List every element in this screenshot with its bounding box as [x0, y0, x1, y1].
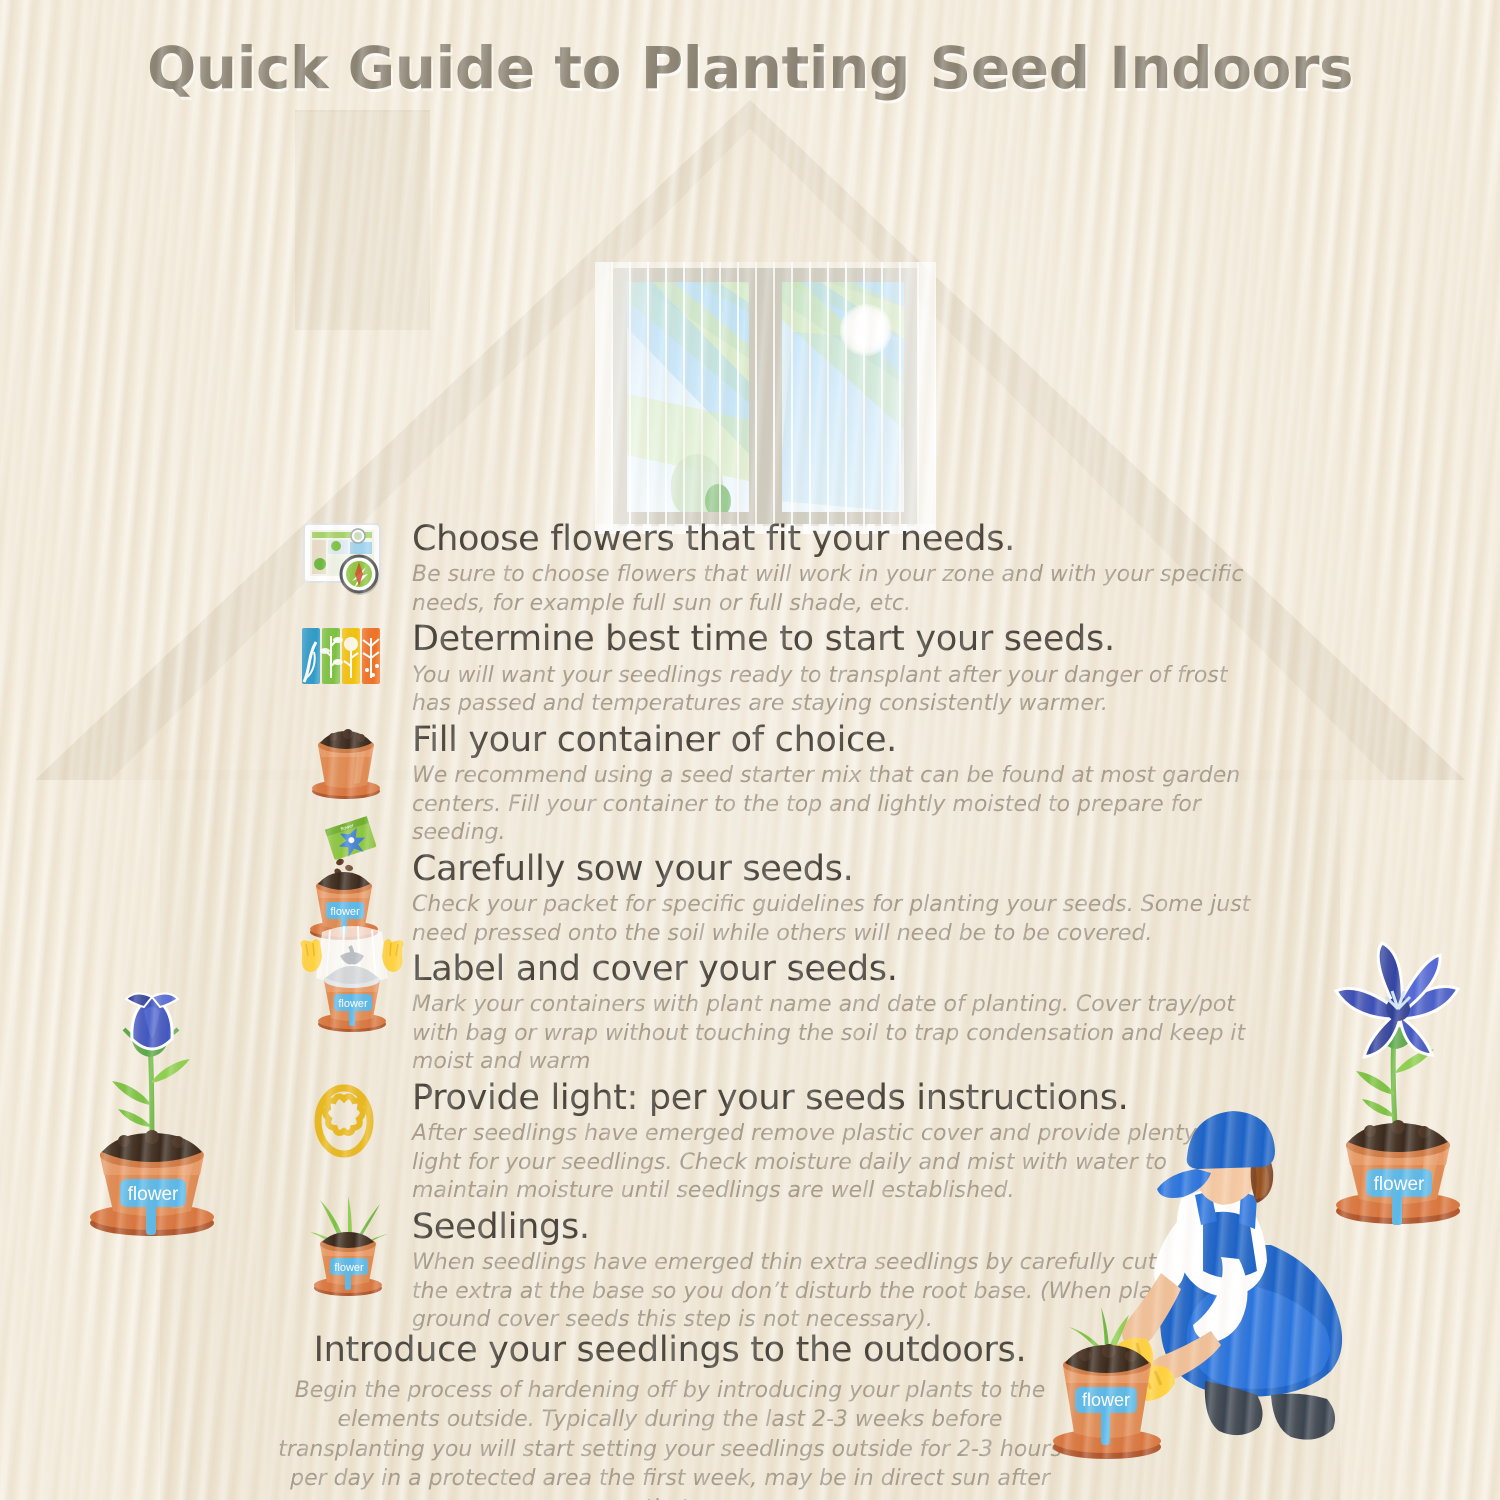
light-ray: [782, 332, 904, 512]
page-title: Quick Guide to Planting Seed Indoors: [0, 34, 1500, 102]
step-body: You will want your seedlings ready to tr…: [412, 662, 1260, 719]
step-item: Determine best time to start your seeds.…: [300, 620, 1260, 718]
svg-text:flower: flower: [1082, 1390, 1130, 1410]
step-item: flower flower: [300, 850, 1260, 948]
step-heading: Choose flowers that fit your needs.: [412, 520, 1260, 559]
four-seasons-bars-icon: [300, 626, 404, 688]
step-item: flower Label and cover your seeds. Mark …: [300, 950, 1260, 1077]
garden-plan-compass-icon: [300, 520, 404, 602]
svg-text:flower: flower: [128, 1184, 179, 1205]
window-mullion: [756, 268, 776, 526]
step-body: Be sure to choose flowers that will work…: [412, 561, 1260, 618]
gloves-covering-pot-icon: flower: [300, 926, 404, 1036]
sun-light-icon: [300, 1085, 404, 1157]
step-heading: Determine best time to start your seeds.: [412, 620, 1260, 659]
outro-block: Introduce your seedlings to the outdoors…: [270, 1330, 1070, 1500]
infographic-canvas: Quick Guide to Planting Seed Indoors: [0, 0, 1500, 1500]
step-heading: Label and cover your seeds.: [412, 950, 1260, 989]
outro-body: Begin the process of hardening off by in…: [270, 1376, 1070, 1500]
gardener-planting-illustration: flower: [1035, 1095, 1365, 1465]
window-pane-right: [782, 282, 904, 512]
svg-text:flower: flower: [330, 906, 360, 918]
sun-icon: [840, 304, 892, 356]
potted-flower-bud-left: flower: [72, 955, 232, 1245]
step-heading: Carefully sow your seeds.: [412, 850, 1260, 889]
svg-text:flower: flower: [334, 1262, 364, 1274]
step-item: Choose flowers that fit your needs. Be s…: [300, 520, 1260, 618]
outdoor-shrub: [705, 484, 731, 512]
outro-heading: Introduce your seedlings to the outdoors…: [270, 1330, 1070, 1370]
svg-text:flower: flower: [338, 998, 368, 1010]
step-body: We recommend using a seed starter mix th…: [412, 762, 1260, 848]
sunny-window-illustration: [613, 268, 918, 526]
window-pane-left: [627, 282, 749, 512]
seed-packet-sowing-icon: flower flower: [300, 820, 404, 940]
step-item: Fill your container of choice. We recomm…: [300, 721, 1260, 848]
svg-text:flower: flower: [1374, 1174, 1425, 1195]
step-heading: Fill your container of choice.: [412, 721, 1260, 760]
step-body: Mark your containers with plant name and…: [412, 991, 1260, 1077]
step-body: Check your packet for specific guideline…: [412, 891, 1260, 948]
seedlings-pot-icon: flower: [300, 1192, 404, 1298]
filled-pot-icon: [300, 723, 404, 801]
